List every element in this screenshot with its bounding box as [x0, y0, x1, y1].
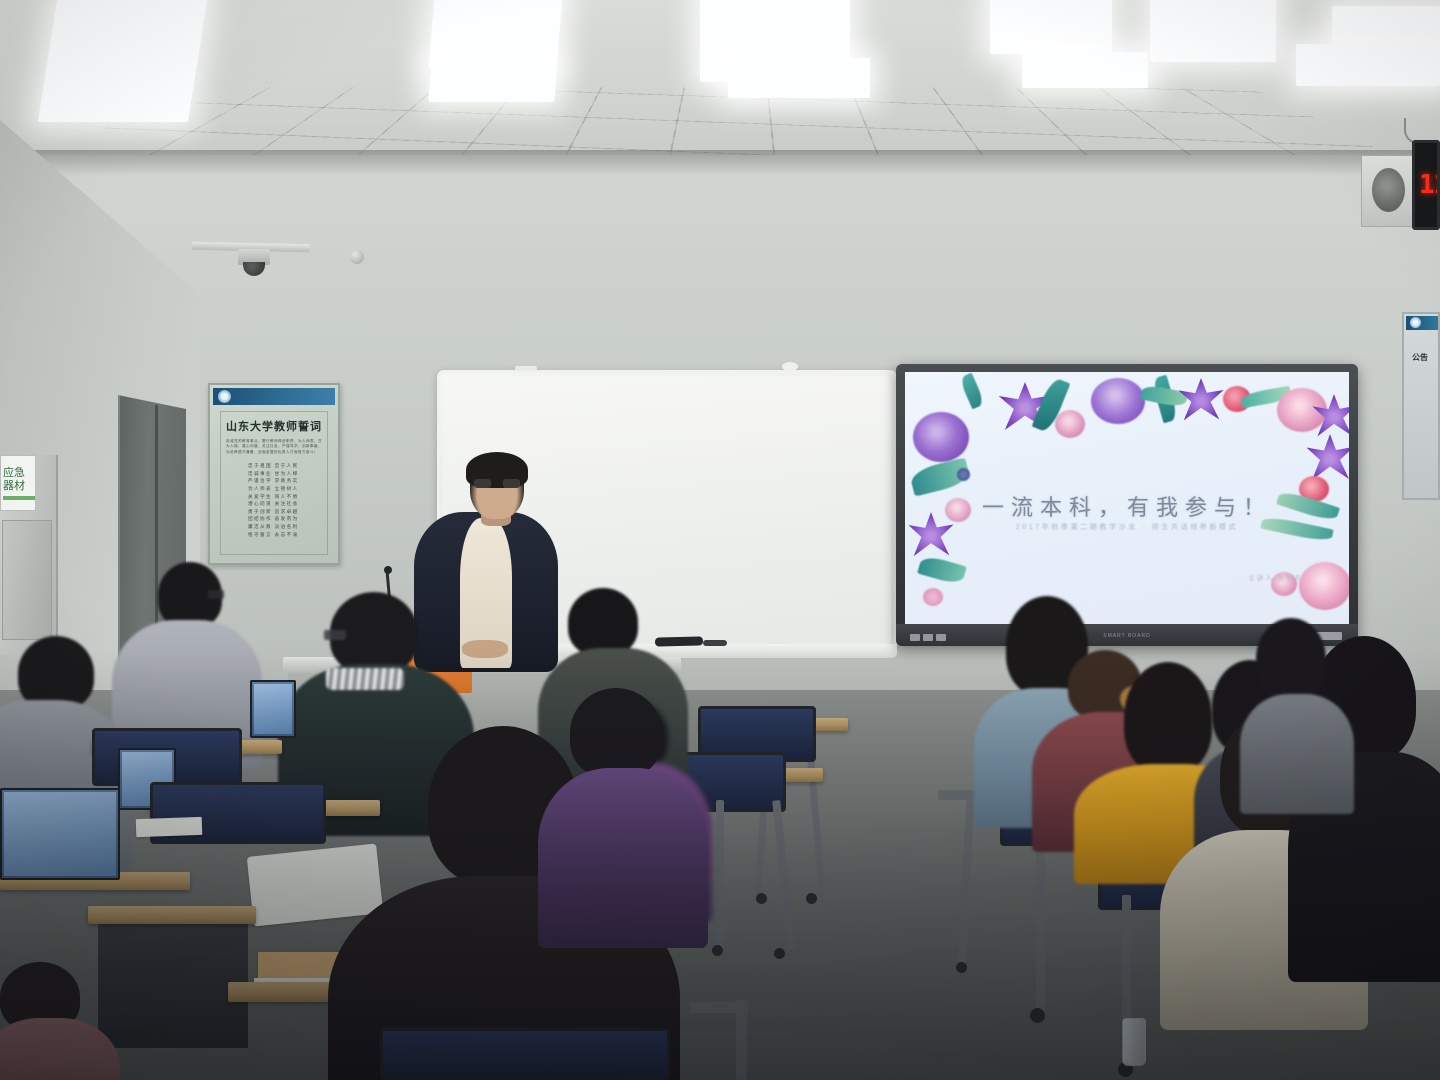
poster-header-band — [213, 388, 335, 405]
oath-line: 恪守誓言 永志不渝 — [248, 531, 322, 539]
emergency-equipment-sign: 应急 器材 — [0, 455, 36, 511]
laptop[interactable] — [0, 788, 120, 880]
notebook-paper — [136, 817, 203, 837]
notebook-paper — [247, 843, 384, 926]
laptop-screen — [254, 684, 292, 734]
slide-title: 一流本科，有我参与！ — [905, 490, 1349, 522]
oath-line: 潜心问道 关注社会 — [248, 500, 322, 508]
head — [18, 636, 94, 710]
ceiling-light — [428, 62, 557, 102]
right-wall-poster: 公告 — [1402, 312, 1440, 500]
oath-line: 忠诚事业 甘为人梯 — [248, 470, 322, 478]
flower-purple-rose — [913, 412, 969, 462]
smart-board-brand-label: SMART BOARD — [1103, 633, 1151, 639]
ceiling-light — [1150, 0, 1276, 62]
flower-pink-rose — [1055, 410, 1085, 438]
chair-wheel-icon — [1030, 1008, 1045, 1023]
desk-pedestal — [98, 920, 248, 1048]
flower-purple-peony — [1091, 378, 1145, 424]
ceiling-light — [428, 0, 563, 68]
glasses-icon — [208, 590, 224, 599]
poster-heading: 山东大学教师誓词 — [226, 418, 322, 434]
glasses-icon — [324, 630, 346, 640]
classroom-photo: 应急 器材 山东大学教师誓词 忠诚党的教育事业，履行教师神圣职责，为人师表，甘为… — [0, 0, 1440, 1080]
smart-board[interactable]: 一流本科，有我参与！ 2017年秋季第二期教学沙龙 · 师生共话培养新模式 主讲… — [896, 364, 1358, 646]
chair-wheel-icon — [806, 893, 817, 904]
led-clock-display: 11 — [1412, 140, 1440, 230]
flower-blue-berry — [957, 468, 970, 481]
ceiling-light — [38, 0, 208, 122]
ceiling-light — [990, 0, 1112, 54]
slide-subtitle: 2017年秋季第二期教学沙龙 · 师生共话培养新模式 — [905, 522, 1349, 532]
ceiling-light — [728, 58, 870, 98]
chair-wheel-icon — [956, 962, 967, 973]
poster-body-text: 忠诚党的教育事业，履行教师神圣职责，为人师表，甘为人梯，潜心问道，关注社会，严谨… — [226, 439, 322, 455]
whiteboard-eraser-icon[interactable] — [703, 640, 727, 646]
oath-line: 关爱学生 诲人不倦 — [248, 493, 322, 501]
chair-leg — [1036, 835, 1045, 1015]
right-poster-heading: 公告 — [1412, 352, 1428, 363]
whiteboard-marker-icon[interactable] — [655, 636, 703, 646]
poster-oath-lines: 忠于祖国 忠于人民 忠诚事业 甘为人梯 严谨治学 求真务实 为人师表 立德树人 … — [226, 462, 322, 538]
oath-line: 勇于创新 追求卓越 — [248, 508, 322, 516]
head — [570, 688, 662, 778]
chair-back[interactable] — [380, 1028, 670, 1080]
head — [1256, 618, 1326, 700]
teacher-oath-poster: 山东大学教师誓词 忠诚党的教育事业，履行教师神圣职责，为人师表，甘为人梯，潜心问… — [208, 383, 340, 565]
chair-leg — [716, 800, 724, 950]
university-seal-icon — [1410, 317, 1421, 328]
water-bottle[interactable] — [1122, 1018, 1146, 1066]
oath-line: 廉洁从教 淡泊名利 — [248, 523, 322, 531]
presenter-hands — [462, 640, 508, 658]
whiteboard-clip-icon — [782, 362, 798, 371]
poster-content: 山东大学教师誓词 忠诚党的教育事业，履行教师神圣职责，为人师表，甘为人梯，潜心问… — [220, 411, 328, 555]
oath-line: 忠于祖国 忠于人民 — [248, 462, 322, 470]
laptop[interactable] — [250, 680, 296, 738]
slide-signature: 主讲人 张晓东 — [1248, 572, 1303, 582]
flower-pink-small — [923, 588, 943, 606]
collar — [326, 668, 404, 690]
leaf-teal — [959, 373, 986, 410]
whiteboard-clip-icon — [515, 366, 537, 371]
flower-pink-peony — [1299, 562, 1349, 610]
wall-ceiling-shadow — [0, 150, 1440, 176]
wall-sensor-icon — [350, 250, 364, 264]
chair-wheel-icon — [774, 948, 785, 959]
oath-line: 为人师表 立德树人 — [248, 485, 322, 493]
chair-armrest — [690, 1002, 748, 1013]
speaker-cone-icon — [1372, 168, 1405, 212]
slide-screen[interactable]: 一流本科，有我参与！ 2017年秋季第二期教学沙龙 · 师生共话培养新模式 主讲… — [905, 372, 1349, 624]
ceiling-light — [1296, 44, 1440, 86]
sign-line-1: 应急 — [3, 467, 35, 480]
ceiling-light — [1022, 52, 1148, 88]
microphone-icon — [384, 566, 392, 574]
chair-wheel-icon — [756, 893, 767, 904]
university-seal-icon — [218, 390, 231, 403]
led-clock-digits: 11 — [1419, 170, 1440, 200]
torso — [1240, 694, 1354, 814]
head — [568, 588, 638, 656]
sign-line-2: 器材 — [3, 480, 35, 493]
sign-green-bar — [3, 496, 35, 500]
oath-line: 严谨治学 求真务实 — [248, 477, 322, 485]
poster-header-band — [1406, 316, 1438, 330]
desk — [88, 906, 256, 924]
leaf-teal — [917, 554, 967, 586]
chair-wheel-icon — [712, 945, 723, 956]
laptop-screen — [4, 792, 116, 876]
head — [1124, 662, 1212, 774]
glasses-icon — [474, 479, 520, 488]
oath-line: 团结协作 奋发有为 — [248, 515, 322, 523]
torso — [538, 768, 708, 948]
wall-utility-box — [2, 520, 52, 640]
smart-board-buttons[interactable] — [910, 634, 946, 641]
